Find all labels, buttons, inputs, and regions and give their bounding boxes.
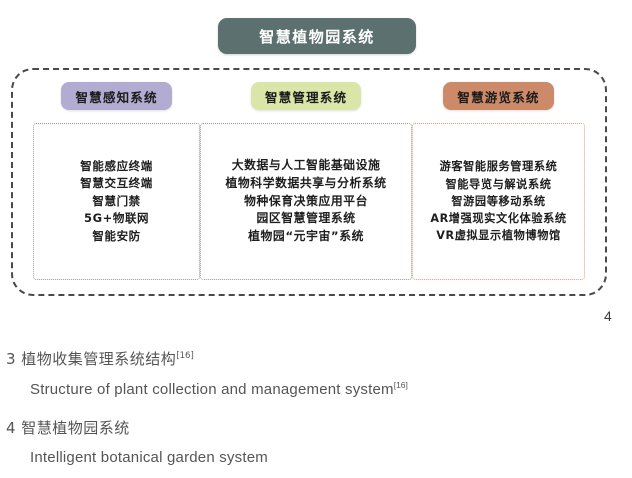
list-item: 智慧交互终端 (80, 175, 153, 193)
column-items-perception: 智能感应终端 智慧交互终端 智慧门禁 5G+物联网 智能安防 (33, 123, 200, 280)
column-tour: 智慧游览系统 游客智能服务管理系统 智能导览与解说系统 智游园等移动系统 AR增… (412, 82, 585, 280)
caption-3-english-ref: [16] (394, 380, 408, 390)
column-header-label: 智慧感知系统 (75, 87, 157, 106)
caption-3-english-text: Structure of plant collection and manage… (30, 381, 394, 398)
caption-4-chinese: 4 智慧植物园系统 (0, 421, 632, 436)
column-items-management: 大数据与人工智能基础设施 植物科学数据共享与分析系统 物种保育决策应用平台 园区… (200, 123, 412, 280)
list-item: 智慧门禁 (92, 193, 140, 211)
list-item: 园区智慧管理系统 (256, 210, 355, 228)
diagram-columns: 智慧感知系统 智能感应终端 智慧交互终端 智慧门禁 5G+物联网 智能安防 智慧… (11, 68, 607, 296)
caption-4-english: Intelligent botanical garden system (0, 450, 632, 465)
column-header-label: 智慧管理系统 (265, 87, 347, 106)
list-item: 游客智能服务管理系统 (440, 158, 558, 175)
list-item: 智游园等移动系统 (451, 193, 545, 210)
list-item: 智能导览与解说系统 (445, 176, 551, 193)
list-item: 植物园“元宇宙”系统 (248, 228, 364, 246)
caption-3-chinese-text: 3 植物收集管理系统结构 (6, 350, 176, 368)
column-header-tour: 智慧游览系统 (443, 82, 553, 110)
list-item: 智能安防 (92, 228, 140, 246)
diagram-title-pill: 智慧植物园系统 (218, 18, 416, 54)
list-item: 5G+物联网 (84, 210, 149, 228)
list-item: 大数据与人工智能基础设施 (232, 157, 381, 175)
caption-4-chinese-text: 4 智慧植物园系统 (6, 419, 130, 437)
caption-3-chinese-ref: [16] (176, 351, 193, 361)
list-item: AR增强现实文化体验系统 (430, 210, 566, 227)
column-header-perception: 智慧感知系统 (61, 82, 171, 110)
caption-3-chinese: 3 植物收集管理系统结构[16] (0, 352, 632, 367)
figure-captions: 3 植物收集管理系统结构[16] Structure of plant coll… (0, 352, 632, 465)
diagram-title-text: 智慧植物园系统 (259, 26, 375, 47)
figure-diagram: 智慧植物园系统 智慧感知系统 智能感应终端 智慧交互终端 智慧门禁 5G+物联网… (0, 0, 632, 340)
column-management: 智慧管理系统 大数据与人工智能基础设施 植物科学数据共享与分析系统 物种保育决策… (200, 82, 412, 280)
column-header-label: 智慧游览系统 (457, 87, 539, 106)
column-perception: 智慧感知系统 智能感应终端 智慧交互终端 智慧门禁 5G+物联网 智能安防 (33, 82, 200, 280)
list-item: VR虚拟显示植物博物馆 (436, 227, 561, 244)
list-item: 智能感应终端 (80, 158, 153, 176)
figure-number: 4 (604, 308, 612, 324)
column-header-management: 智慧管理系统 (251, 82, 361, 110)
column-items-tour: 游客智能服务管理系统 智能导览与解说系统 智游园等移动系统 AR增强现实文化体验… (412, 123, 585, 280)
list-item: 植物科学数据共享与分析系统 (226, 175, 387, 193)
caption-3-english: Structure of plant collection and manage… (0, 381, 632, 397)
caption-4-english-text: Intelligent botanical garden system (30, 449, 268, 466)
list-item: 物种保育决策应用平台 (244, 193, 368, 211)
